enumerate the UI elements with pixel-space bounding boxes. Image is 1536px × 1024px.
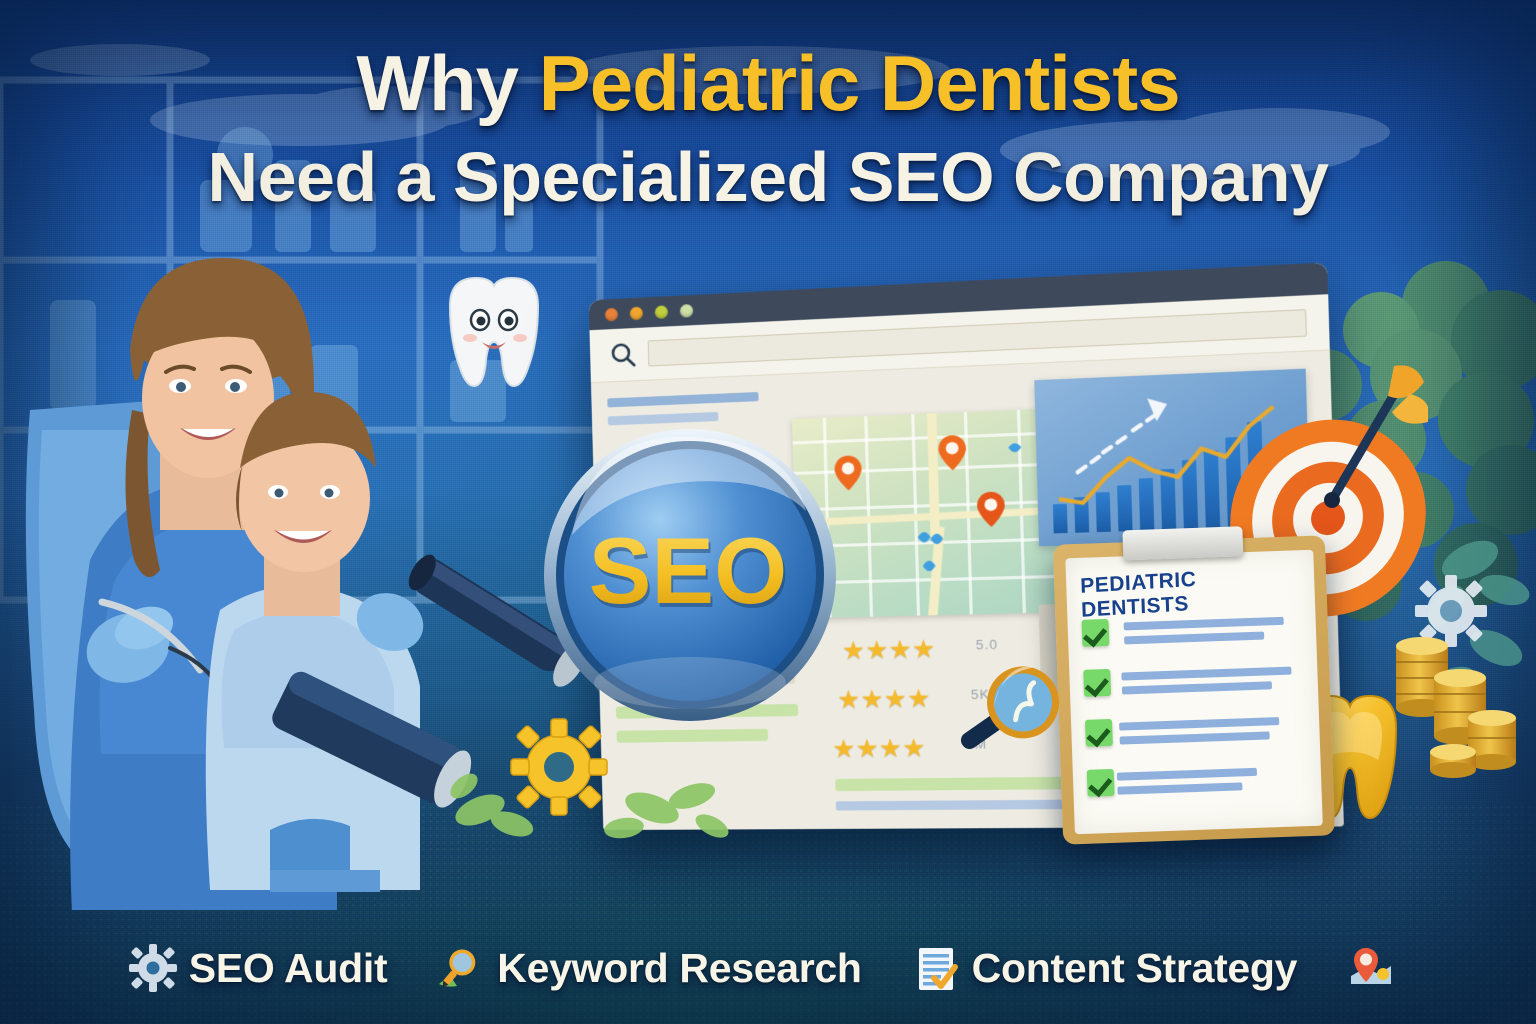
checkbox-checked[interactable] [1081,619,1109,647]
text-line [1121,667,1291,681]
star-icon: ★ [888,635,912,664]
star-icon: ★ [907,684,931,713]
dot-light-green[interactable] [680,303,693,317]
arrow-in-bullseye [1298,360,1428,520]
feature-content-strategy[interactable]: Content Strategy [912,944,1298,992]
text-line [1117,782,1242,794]
title-word-need-a: Need a [208,138,454,216]
star-icon: ★ [860,685,884,714]
rating-row: ★★★★ 9M [832,733,926,765]
result-line [608,412,719,426]
title-highlight-pediatric-dentists: Pediatric Dentists [539,39,1180,127]
result-line [607,392,758,407]
star-icon: ★ [878,734,902,763]
star-icon: ★ [902,734,926,763]
rating-meta: 5.0 [976,637,999,653]
text-line [1120,731,1270,744]
seo-magnifier[interactable]: SEO SEO [540,425,840,725]
feature-label: SEO Audit [189,945,388,992]
banner-image: ★★★★ 5.0 ★★★★ 5K ★★★★ 9M ▪▪▪▪▪▪▪ [0,0,1536,1024]
search-icon [610,341,637,368]
magnifier-icon [437,944,485,992]
star-icon: ★ [837,686,861,715]
text-line [1119,717,1279,731]
checklist-clipboard[interactable]: PEDIATRIC DENTISTS [1053,535,1335,844]
green-badge [835,777,1078,791]
star-icon: ★ [832,735,856,764]
checkbox-checked[interactable] [1083,669,1111,697]
feature-local-maps[interactable] [1347,944,1407,992]
clipboard-paper: PEDIATRIC DENTISTS [1065,550,1322,834]
title-word-company: Company [994,138,1328,216]
feature-label: Keyword Research [497,945,861,992]
gear-icon [129,944,177,992]
star-icon: ★ [911,635,935,664]
star-icon: ★ [865,636,889,665]
title-word-why: Why [356,39,538,127]
star-icon: ★ [883,685,907,714]
checklist-item[interactable] [1081,610,1304,662]
dashed-up-arrow [1076,398,1169,473]
dot-amber[interactable] [630,306,643,320]
title-highlight-specialized-seo: Specialized SEO [453,138,994,216]
dot-yellow-green[interactable] [655,305,668,319]
rating-row: ★★★★ 5K [837,683,931,715]
map-pin-icon [1347,944,1395,992]
checklist-item[interactable] [1087,760,1310,812]
checklist-item[interactable] [1083,660,1306,712]
feature-keyword-research[interactable]: Keyword Research [437,944,861,992]
title-line-1: Why Pediatric Dentists [0,44,1536,122]
rating-row: ★★★★ 5.0 [841,634,935,667]
feature-label: Content Strategy [972,945,1298,992]
text-line [1122,681,1272,694]
seo-label: SEO [589,518,788,623]
clipboard-clip [1122,526,1243,560]
document-check-icon [912,944,960,992]
text-line [1117,768,1257,781]
dot-orange[interactable] [605,307,618,321]
banner-title: Why Pediatric Dentists Need a Specialize… [0,44,1536,212]
checklist-item[interactable] [1085,710,1308,762]
magnifier-icon[interactable] [945,655,1065,775]
feature-bar: SEO Audit Keyword Research [0,928,1536,1008]
star-icon: ★ [841,636,865,665]
text-line [1124,632,1264,645]
title-line-2: Need a Specialized SEO Company [0,142,1536,212]
checkbox-checked[interactable] [1085,719,1113,747]
star-icon: ★ [855,734,879,763]
text-line [1124,617,1284,631]
feature-seo-audit[interactable]: SEO Audit [129,944,388,992]
checkbox-checked[interactable] [1087,769,1115,797]
gold-coin-stacks [1390,610,1520,790]
gear-icon [510,718,608,816]
